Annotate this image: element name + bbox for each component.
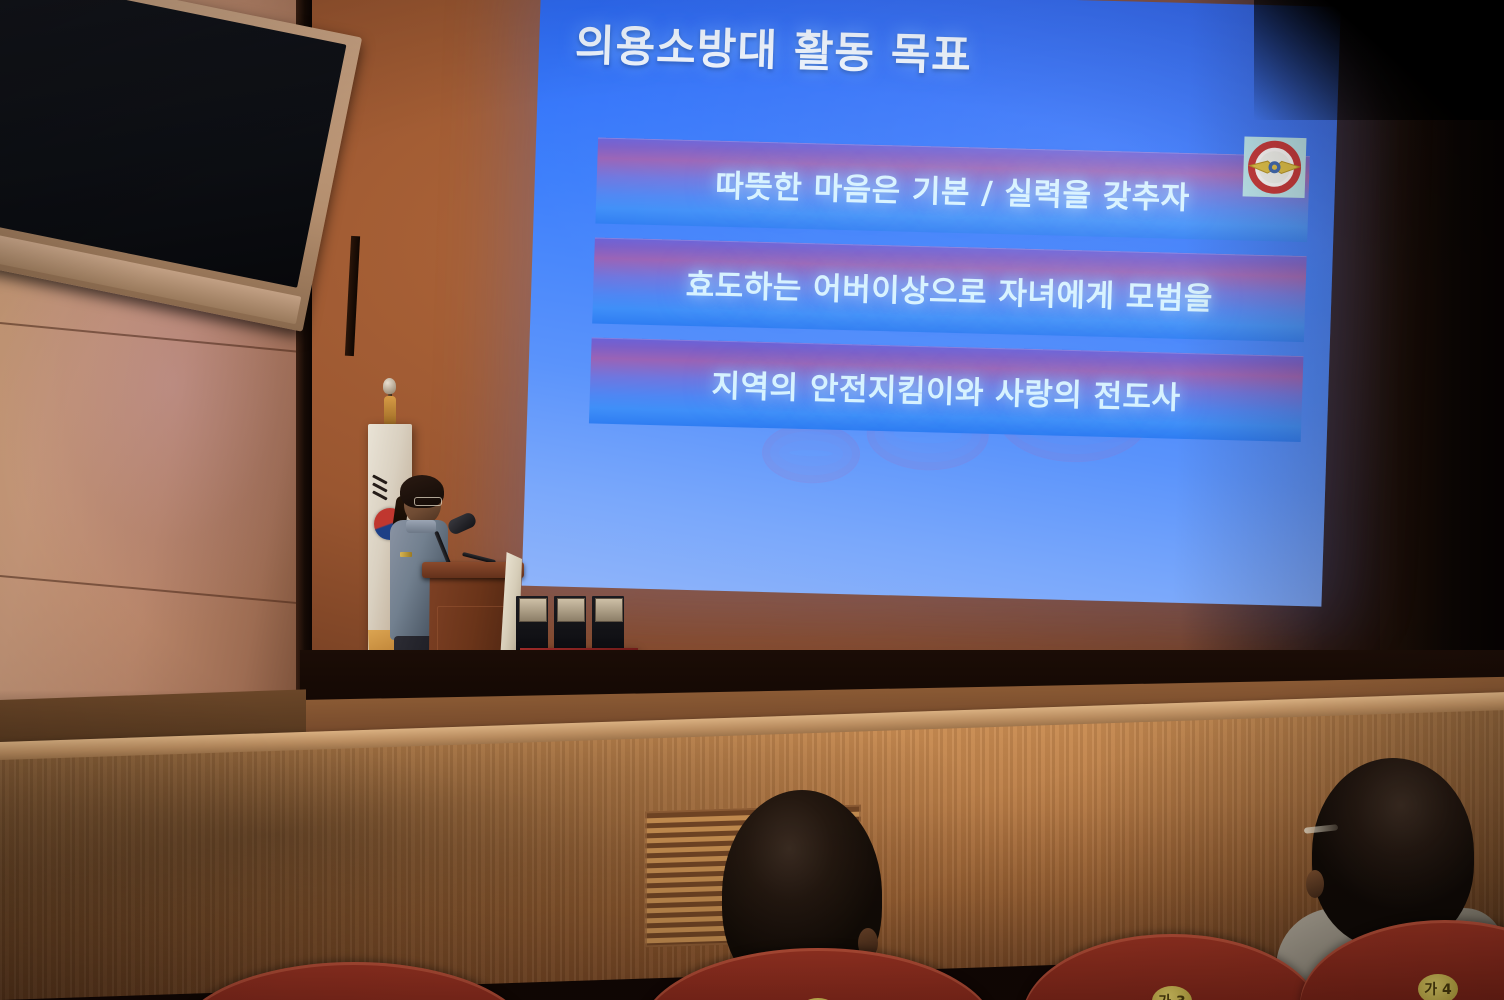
award-plaque-1: [516, 596, 548, 652]
award-plaque-2-face: [557, 598, 585, 622]
flag-tassel: [384, 396, 396, 426]
award-plaque-3: [592, 596, 624, 652]
presenter-glasses: [414, 497, 442, 506]
award-plaque-1-face: [519, 598, 547, 622]
seat-badge-4: 가 4: [1418, 974, 1458, 1000]
award-plaque-3-face: [595, 598, 623, 622]
projected-slide: 의용소방대 활동 목표 따뜻한 마음은 기본 / 실력을 갖추자 효도하는 어버…: [522, 0, 1341, 607]
top-right-darkness: [1254, 0, 1504, 120]
award-plaque-2: [554, 596, 586, 652]
auditorium-scene: 의용소방대 활동 목표 따뜻한 마음은 기본 / 실력을 갖추자 효도하는 어버…: [0, 0, 1504, 1000]
audience-member-right-ear: [1306, 870, 1324, 898]
presenter-name-badge: [400, 552, 412, 557]
flag-finial: [383, 378, 396, 394]
seat-badge-3: 가 3: [1152, 986, 1192, 1000]
presenter-collar: [406, 520, 436, 533]
